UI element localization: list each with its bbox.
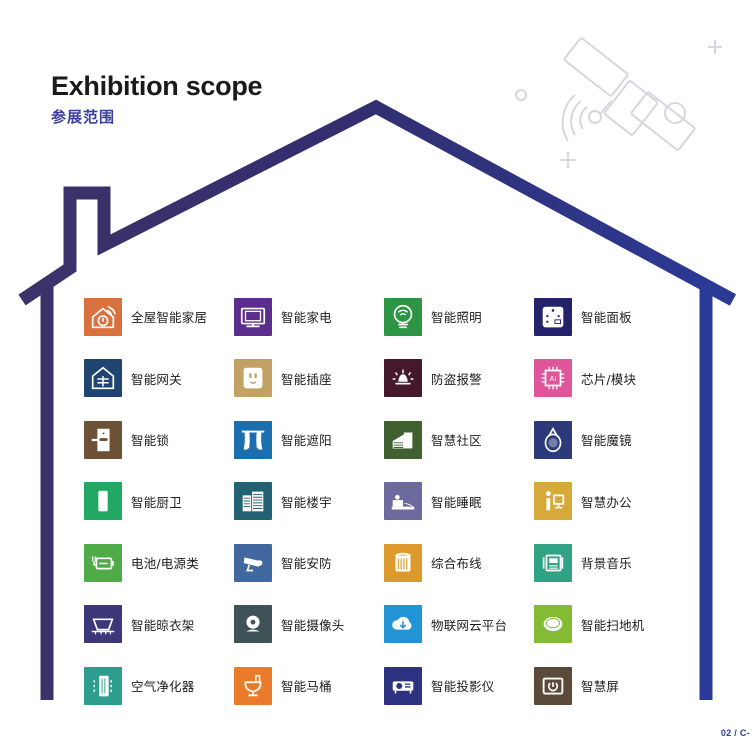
svg-text:AI: AI: [549, 374, 556, 383]
plus-sparkle: [706, 38, 724, 56]
small-circle: [512, 86, 530, 104]
smart-toilet-icon: [234, 667, 272, 705]
page-title-en: Exhibition scope: [51, 72, 262, 100]
community-building-icon: [384, 421, 422, 459]
category-label: 智能锁: [131, 430, 169, 449]
category-item[interactable]: 智能插座: [234, 348, 384, 410]
category-label: 智能面板: [581, 307, 632, 326]
ai-chip-icon: AI: [534, 359, 572, 397]
door-lock-icon: [84, 421, 122, 459]
category-label: 空气净化器: [131, 676, 195, 695]
category-label: 智能投影仪: [431, 676, 495, 695]
category-item[interactable]: 智能睡眠: [384, 471, 534, 533]
category-label: 智慧办公: [581, 492, 632, 511]
category-item[interactable]: 智能遮阳: [234, 409, 384, 471]
slide-page: Exhibition scope 参展范围 全屋智能家居智能家电智能照明智能面板…: [0, 0, 755, 756]
category-label: 智慧屏: [581, 676, 619, 695]
audio-system-icon: [534, 544, 572, 582]
category-label: 智能睡眠: [431, 492, 482, 511]
category-item[interactable]: 防盗报警: [384, 348, 534, 410]
curtain-icon: [234, 421, 272, 459]
tv-icon: [234, 298, 272, 336]
category-item[interactable]: 背景音乐: [534, 532, 684, 594]
satellite-icon: [525, 35, 740, 185]
category-label: 智能安防: [281, 553, 332, 572]
category-item[interactable]: 综合布线: [384, 532, 534, 594]
page-title-cn: 参展范围: [51, 106, 262, 127]
cloud-iot-icon: [384, 605, 422, 643]
kitchen-bath-icon: [84, 482, 122, 520]
cabling-icon: [384, 544, 422, 582]
category-label: 智能网关: [131, 369, 182, 388]
category-label: 智能插座: [281, 369, 332, 388]
category-label: 电池/电源类: [131, 553, 199, 572]
category-item[interactable]: 智能楼宇: [234, 471, 384, 533]
category-label: 综合布线: [431, 553, 482, 572]
category-label: 智慧社区: [431, 430, 482, 449]
category-label: 芯片/模块: [581, 369, 636, 388]
category-item[interactable]: 全屋智能家居: [84, 286, 234, 348]
smart-bulb-icon: [384, 298, 422, 336]
category-item[interactable]: 智能安防: [234, 532, 384, 594]
category-label: 智能魔镜: [581, 430, 632, 449]
page-number: 02 / C-: [721, 728, 750, 738]
category-label: 智能扫地机: [581, 615, 645, 634]
category-label: 智能厨卫: [131, 492, 182, 511]
robot-vacuum-icon: [534, 605, 572, 643]
projector-icon: [384, 667, 422, 705]
category-grid: 全屋智能家居智能家电智能照明智能面板智能网关智能插座防盗报警AI芯片/模块智能锁…: [84, 286, 684, 717]
category-item[interactable]: 智能晾衣架: [84, 594, 234, 656]
bed-icon: [384, 482, 422, 520]
category-item[interactable]: 智能锁: [84, 409, 234, 471]
category-item[interactable]: AI芯片/模块: [534, 348, 684, 410]
category-label: 背景音乐: [581, 553, 632, 572]
category-item[interactable]: 智能厨卫: [84, 471, 234, 533]
category-item[interactable]: 智慧社区: [384, 409, 534, 471]
category-item[interactable]: 智能照明: [384, 286, 534, 348]
category-item[interactable]: 智能投影仪: [384, 655, 534, 717]
category-label: 智能摄像头: [281, 615, 345, 634]
wall-panel-icon: [534, 298, 572, 336]
security-camera-icon: [234, 544, 272, 582]
category-item[interactable]: 智能马桶: [234, 655, 384, 717]
category-item[interactable]: 智能家电: [234, 286, 384, 348]
air-purifier-icon: [84, 667, 122, 705]
category-item[interactable]: 物联网云平台: [384, 594, 534, 656]
category-item[interactable]: 智慧屏: [534, 655, 684, 717]
category-label: 智能马桶: [281, 676, 332, 695]
office-building-icon: [234, 482, 272, 520]
battery-power-icon: [84, 544, 122, 582]
category-label: 智能家电: [281, 307, 332, 326]
category-label: 智能照明: [431, 307, 482, 326]
category-label: 防盗报警: [431, 369, 482, 388]
power-socket-icon: [234, 359, 272, 397]
category-label: 物联网云平台: [431, 615, 507, 634]
alarm-bell-icon: [384, 359, 422, 397]
magic-mirror-icon: [534, 421, 572, 459]
clothes-rack-icon: [84, 605, 122, 643]
office-desk-icon: [534, 482, 572, 520]
webcam-icon: [234, 605, 272, 643]
category-item[interactable]: 空气净化器: [84, 655, 234, 717]
smart-home-wifi-icon: [84, 298, 122, 336]
category-item[interactable]: 智能魔镜: [534, 409, 684, 471]
category-item[interactable]: 智能扫地机: [534, 594, 684, 656]
category-label: 智能遮阳: [281, 430, 332, 449]
category-item[interactable]: 智能面板: [534, 286, 684, 348]
category-item[interactable]: 智慧办公: [534, 471, 684, 533]
power-screen-icon: [534, 667, 572, 705]
category-item[interactable]: 智能摄像头: [234, 594, 384, 656]
category-item[interactable]: 电池/电源类: [84, 532, 234, 594]
page-header: Exhibition scope 参展范围: [51, 72, 262, 127]
plus-sparkle: [558, 150, 578, 170]
category-label: 智能楼宇: [281, 492, 332, 511]
category-label: 全屋智能家居: [131, 307, 207, 326]
category-item[interactable]: 智能网关: [84, 348, 234, 410]
gateway-icon: [84, 359, 122, 397]
category-label: 智能晾衣架: [131, 615, 195, 634]
